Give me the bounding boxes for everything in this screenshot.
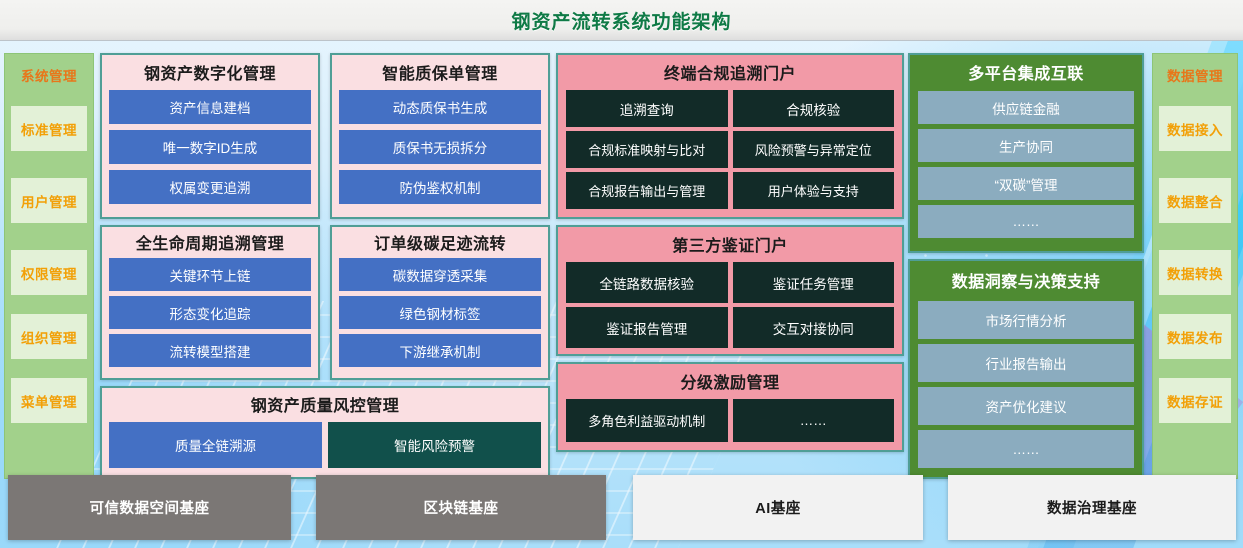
item-key-node-onchain[interactable]: 关键环节上链 — [109, 258, 311, 291]
item-smart-risk-alert[interactable]: 智能风险预警 — [328, 422, 541, 468]
sidebar-item-data-evidence[interactable]: 数据存证 — [1159, 378, 1231, 423]
sidebar-item-permission-mgmt[interactable]: 权限管理 — [11, 250, 87, 295]
card-compliance-row-3: 合规报告输出与管理 用户体验与支持 — [566, 172, 894, 209]
item-carbon-data-collect[interactable]: 碳数据穿透采集 — [339, 258, 541, 291]
item-asset-optimize[interactable]: 资产优化建议 — [918, 387, 1134, 425]
card-asset-digital: 钢资产数字化管理 资产信息建档 唯一数字ID生成 权属变更追溯 — [100, 53, 320, 219]
item-verify-report-mgmt[interactable]: 鉴证报告管理 — [566, 307, 728, 348]
item-multi-platform-more[interactable]: …… — [918, 205, 1134, 238]
sidebar-item-menu-mgmt[interactable]: 菜单管理 — [11, 378, 87, 423]
card-quality-risk-title: 钢资产质量风控管理 — [109, 392, 541, 422]
card-lifecycle-items: 关键环节上链 形态变化追踪 流转模型搭建 — [109, 258, 311, 367]
item-flow-model-build[interactable]: 流转模型搭建 — [109, 334, 311, 367]
card-third-party-portal-title: 第三方鉴证门户 — [566, 231, 894, 262]
architecture-diagram: 系统管理 标准管理 用户管理 权限管理 组织管理 菜单管理 数据管理 数据接入 … — [0, 41, 1243, 548]
card-multi-platform-title: 多平台集成互联 — [918, 59, 1134, 91]
card-lifecycle: 全生命周期追溯管理 关键环节上链 形态变化追踪 流转模型搭建 — [100, 225, 320, 380]
card-quality-risk-items: 质量全链溯源 智能风险预警 — [109, 422, 541, 468]
sidebar-right-header: 数据管理 — [1159, 59, 1231, 95]
item-compliance-report[interactable]: 合规报告输出与管理 — [566, 172, 728, 209]
item-ownership-trace[interactable]: 权属变更追溯 — [109, 170, 311, 204]
card-insight-items: 市场行情分析 行业报告输出 资产优化建议 …… — [918, 301, 1134, 468]
item-industry-report[interactable]: 行业报告输出 — [918, 344, 1134, 382]
card-carbon-items: 碳数据穿透采集 绿色钢材标签 下游继承机制 — [339, 258, 541, 367]
card-incentive-items: 多角色利益驱动机制 …… — [566, 399, 894, 442]
item-standard-mapping[interactable]: 合规标准映射与比对 — [566, 131, 728, 168]
card-third-party-portal: 第三方鉴证门户 全链路数据核验 鉴证任务管理 鉴证报告管理 交互对接协同 — [556, 225, 904, 356]
item-asset-archive[interactable]: 资产信息建档 — [109, 90, 311, 124]
card-multi-platform: 多平台集成互联 供应链金融 生产协同 “双碳”管理 …… — [908, 53, 1144, 253]
item-unique-id[interactable]: 唯一数字ID生成 — [109, 130, 311, 164]
sidebar-item-data-publish[interactable]: 数据发布 — [1159, 314, 1231, 359]
card-incentive-title: 分级激励管理 — [566, 368, 894, 399]
card-warranty: 智能质保单管理 动态质保书生成 质保书无损拆分 防伪鉴权机制 — [330, 53, 550, 219]
item-user-experience[interactable]: 用户体验与支持 — [733, 172, 895, 209]
card-multi-platform-items: 供应链金融 生产协同 “双碳”管理 …… — [918, 91, 1134, 238]
card-quality-risk: 钢资产质量风控管理 质量全链溯源 智能风险预警 — [100, 386, 550, 479]
item-multi-role-benefit[interactable]: 多角色利益驱动机制 — [566, 399, 728, 442]
base-card-blockchain[interactable]: 区块链基座 — [316, 475, 606, 540]
card-compliance-row-1: 追溯查询 合规核验 — [566, 90, 894, 127]
card-carbon: 订单级碳足迹流转 碳数据穿透采集 绿色钢材标签 下游继承机制 — [330, 225, 550, 380]
item-downstream-inherit[interactable]: 下游继承机制 — [339, 334, 541, 367]
card-compliance-portal: 终端合规追溯门户 追溯查询 合规核验 合规标准映射与比对 风险预警与异常定位 合… — [556, 53, 904, 219]
card-insight: 数据洞察与决策支持 市场行情分析 行业报告输出 资产优化建议 …… — [908, 259, 1144, 479]
sidebar-item-data-integrate[interactable]: 数据整合 — [1159, 178, 1231, 223]
item-trace-query[interactable]: 追溯查询 — [566, 90, 728, 127]
base-card-trusted-data-space[interactable]: 可信数据空间基座 — [8, 475, 291, 540]
base-card-data-governance[interactable]: 数据治理基座 — [948, 475, 1236, 540]
page-title: 钢资产流转系统功能架构 — [511, 7, 731, 34]
item-full-chain-verify[interactable]: 全链路数据核验 — [566, 262, 728, 303]
card-compliance-portal-title: 终端合规追溯门户 — [566, 59, 894, 90]
sidebar-item-standard-mgmt[interactable]: 标准管理 — [11, 106, 87, 151]
sidebar-item-user-mgmt[interactable]: 用户管理 — [11, 178, 87, 223]
card-lifecycle-title: 全生命周期追溯管理 — [109, 231, 311, 258]
card-compliance-row-2: 合规标准映射与比对 风险预警与异常定位 — [566, 131, 894, 168]
item-dual-carbon-mgmt[interactable]: “双碳”管理 — [918, 167, 1134, 200]
sidebar-left: 系统管理 标准管理 用户管理 权限管理 组织管理 菜单管理 — [4, 53, 94, 479]
card-third-party-row-1: 全链路数据核验 鉴证任务管理 — [566, 262, 894, 303]
card-warranty-title: 智能质保单管理 — [339, 60, 541, 90]
sidebar-left-header: 系统管理 — [11, 59, 87, 95]
item-production-collab[interactable]: 生产协同 — [918, 129, 1134, 162]
card-insight-title: 数据洞察与决策支持 — [918, 265, 1134, 301]
item-verify-task-mgmt[interactable]: 鉴证任务管理 — [733, 262, 895, 303]
sidebar-item-data-transform[interactable]: 数据转换 — [1159, 250, 1231, 295]
base-card-ai[interactable]: AI基座 — [633, 475, 923, 540]
item-interop-collab[interactable]: 交互对接协同 — [733, 307, 895, 348]
title-bar: 钢资产流转系统功能架构 — [0, 0, 1243, 41]
card-third-party-row-2: 鉴证报告管理 交互对接协同 — [566, 307, 894, 348]
sidebar-item-org-mgmt[interactable]: 组织管理 — [11, 314, 87, 359]
item-market-analysis[interactable]: 市场行情分析 — [918, 301, 1134, 339]
item-risk-alert-locate[interactable]: 风险预警与异常定位 — [733, 131, 895, 168]
item-anti-counterfeit[interactable]: 防伪鉴权机制 — [339, 170, 541, 204]
item-green-steel-label[interactable]: 绿色钢材标签 — [339, 296, 541, 329]
item-warranty-split[interactable]: 质保书无损拆分 — [339, 130, 541, 164]
item-incentive-more[interactable]: …… — [733, 399, 895, 442]
sidebar-item-data-ingest[interactable]: 数据接入 — [1159, 106, 1231, 151]
item-compliance-verify[interactable]: 合规核验 — [733, 90, 895, 127]
card-warranty-items: 动态质保书生成 质保书无损拆分 防伪鉴权机制 — [339, 90, 541, 204]
sidebar-right: 数据管理 数据接入 数据整合 数据转换 数据发布 数据存证 — [1152, 53, 1238, 479]
card-asset-digital-items: 资产信息建档 唯一数字ID生成 权属变更追溯 — [109, 90, 311, 204]
item-insight-more[interactable]: …… — [918, 430, 1134, 468]
card-asset-digital-title: 钢资产数字化管理 — [109, 60, 311, 90]
card-incentive: 分级激励管理 多角色利益驱动机制 …… — [556, 362, 904, 452]
card-carbon-title: 订单级碳足迹流转 — [339, 231, 541, 258]
item-form-change-track[interactable]: 形态变化追踪 — [109, 296, 311, 329]
item-dynamic-warranty[interactable]: 动态质保书生成 — [339, 90, 541, 124]
item-supply-chain-finance[interactable]: 供应链金融 — [918, 91, 1134, 124]
item-quality-full-trace[interactable]: 质量全链溯源 — [109, 422, 322, 468]
